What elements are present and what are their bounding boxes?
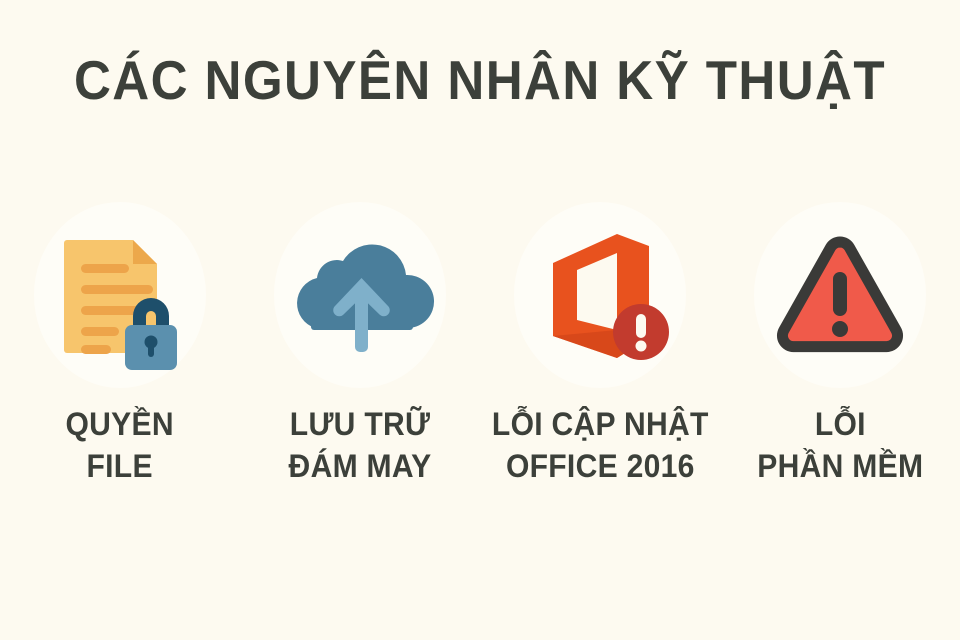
page-title: CÁC NGUYÊN NHÂN KỸ THUẬT xyxy=(34,52,927,110)
label-quyen-file: QUYỀN FILE xyxy=(66,403,174,487)
column-loi-cap-nhat-office: LỖI CẬP NHẬT OFFICE 2016 xyxy=(484,195,716,487)
icon-wrapper-1 xyxy=(20,195,220,395)
label-line-2: OFFICE 2016 xyxy=(492,445,709,487)
label-loi-phan-mem: LỖI PHẦN MỀM xyxy=(757,403,923,487)
cloud-upload-icon xyxy=(285,220,435,370)
warning-triangle-icon xyxy=(765,220,915,370)
file-lock-icon xyxy=(45,220,195,370)
label-line-2: FILE xyxy=(66,445,174,487)
icon-wrapper-3 xyxy=(500,195,700,395)
label-loi-cap-nhat-office: LỖI CẬP NHẬT OFFICE 2016 xyxy=(492,403,709,487)
office-error-icon xyxy=(525,220,675,370)
label-line-1: LỖI xyxy=(815,406,866,442)
column-loi-phan-mem: LỖI PHẦN MỀM xyxy=(724,195,956,487)
label-line-1: QUYỀN xyxy=(66,406,174,442)
label-line-1: LỖI CẬP NHẬT xyxy=(492,406,709,442)
label-line-2: ĐÁM MAY xyxy=(289,445,432,487)
infographic-poster: CÁC NGUYÊN NHÂN KỸ THUẬT xyxy=(0,0,960,640)
icon-wrapper-4 xyxy=(740,195,940,395)
label-line-2: PHẦN MỀM xyxy=(757,445,923,487)
column-luu-tru-dam-may: LƯU TRỮ ĐÁM MAY xyxy=(244,195,476,487)
label-luu-tru-dam-may: LƯU TRỮ ĐÁM MAY xyxy=(289,403,432,487)
label-line-1: LƯU TRỮ xyxy=(290,406,430,442)
icon-wrapper-2 xyxy=(260,195,460,395)
column-quyen-file: QUYỀN FILE xyxy=(4,195,236,487)
icon-columns: QUYỀN FILE LƯU TRỮ ĐÁM MAY xyxy=(0,195,960,535)
